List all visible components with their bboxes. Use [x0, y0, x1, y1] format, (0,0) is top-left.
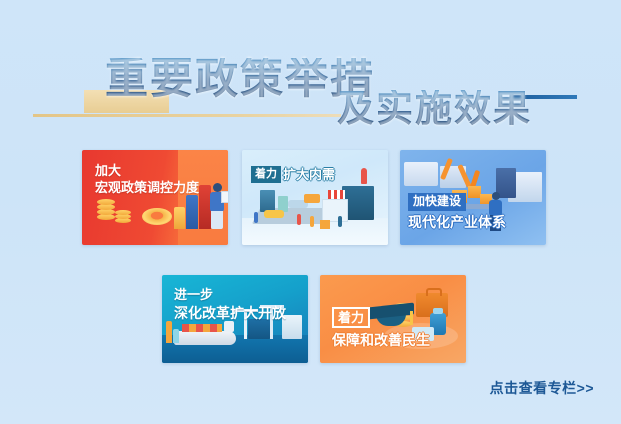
policy-card-modern-industrial-system[interactable]: 加快建设 现代化产业体系 — [400, 150, 546, 245]
card3-line1: 加快建设 — [408, 193, 466, 211]
policy-card-macro-policy-regulation[interactable]: 加大 宏观政策调控力度 — [82, 150, 228, 245]
title-area: 重要政策举措 及实施效果 — [0, 28, 621, 128]
policy-card-expand-domestic-demand[interactable]: 着力扩大内需 — [242, 150, 388, 245]
card2-truck — [304, 194, 320, 203]
card4-warehouse — [248, 319, 270, 339]
gold-ring-icon — [142, 208, 172, 225]
card2-store-front — [322, 199, 348, 222]
view-column-link[interactable]: 点击查看专栏>> — [490, 378, 594, 398]
card1-line1: 加大 — [95, 163, 199, 178]
coin-stack-left — [97, 199, 115, 205]
card2-person — [254, 212, 258, 223]
policy-banner: 重要政策举措 及实施效果 加大 宏观政策调控力度 — [0, 0, 621, 424]
card4-ship-bridge — [224, 321, 234, 332]
card4-bar — [166, 321, 172, 343]
person-figure-clipboard — [221, 191, 228, 203]
card5-label: 着力 保障和改善民生 — [332, 307, 430, 348]
card1-line2: 宏观政策调控力度 — [95, 180, 199, 195]
card5-briefcase-handle — [426, 288, 442, 296]
card2-person — [297, 214, 301, 225]
card2-label: 着力扩大内需 — [251, 166, 335, 185]
person-figure-legs — [211, 211, 223, 229]
card2-rocket — [361, 168, 367, 184]
coin-stack-right — [115, 210, 131, 215]
card4-label: 进一步 深化改革扩大开放 — [174, 287, 286, 321]
card1-label: 加大 宏观政策调控力度 — [95, 163, 199, 195]
page-title-main: 重要政策举措 — [105, 58, 375, 101]
card4-line1: 进一步 — [174, 287, 286, 302]
policy-card-improve-peoples-livelihood[interactable]: 着力 保障和改善民生 — [320, 275, 466, 363]
gold-underline-rule — [33, 114, 341, 117]
page-title-sub: 及实施效果 — [337, 90, 532, 127]
card3-label: 加快建设 现代化产业体系 — [408, 192, 506, 230]
bar-chart-bar — [186, 195, 198, 229]
card2-car — [264, 210, 284, 218]
bar-chart-bar — [174, 207, 185, 229]
card5-line2: 保障和改善民生 — [332, 332, 430, 348]
card4-ship-hull — [174, 331, 236, 345]
card2-building — [260, 190, 275, 212]
card4-line2: 深化改革扩大开放 — [174, 305, 286, 321]
policy-card-deepen-reform-opening-up[interactable]: 进一步 深化改革扩大开放 — [162, 275, 308, 363]
card4-ship-containers — [182, 324, 222, 332]
card4-bar — [173, 329, 179, 343]
card2-line1: 着力 — [251, 166, 281, 183]
card2-person — [310, 216, 314, 227]
card3-machine — [404, 162, 438, 186]
card2-line2: 扩大内需 — [283, 167, 335, 182]
card3-line2: 现代化产业体系 — [408, 214, 506, 230]
card5-line1: 着力 — [332, 307, 370, 328]
card2-person — [338, 216, 342, 227]
card2-store-awning — [328, 190, 345, 199]
card5-bottle-cap — [433, 308, 443, 314]
card2-package — [320, 220, 330, 229]
